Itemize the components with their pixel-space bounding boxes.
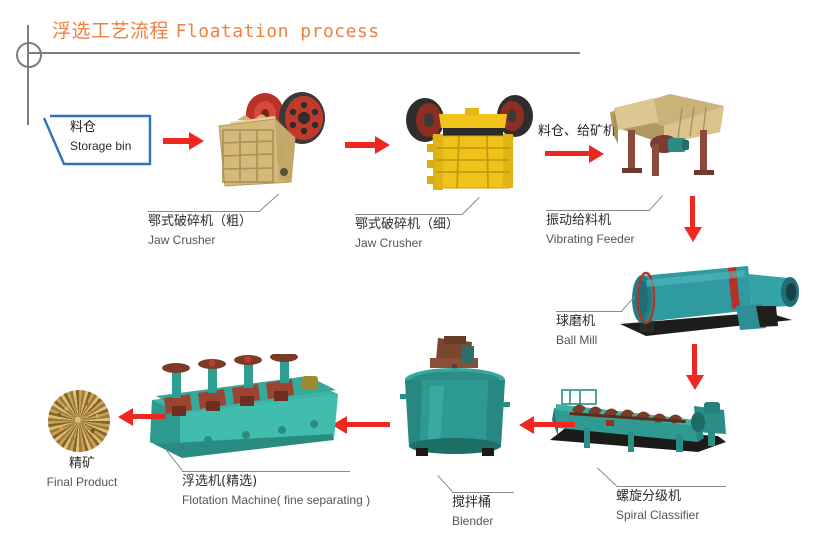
jaw-crusher-coarse-leader-horizontal — [148, 211, 260, 212]
spiral-classifier-leader-horizontal — [616, 486, 726, 487]
vibrating-feeder-label-en: Vibrating Feeder — [546, 231, 635, 248]
storage-bin-label-en: Storage bin — [70, 138, 131, 155]
vibrating-feeder-leader-horizontal — [546, 210, 650, 211]
ball-mill-leader-horizontal — [556, 311, 622, 312]
flow-diagram-canvas: 浮选工艺流程 Floatation process 料仓 Storage bin — [0, 0, 818, 551]
jaw-crusher-coarse-image — [205, 86, 330, 191]
spiral-classifier-label: 螺旋分级机 Spiral Classifier — [616, 488, 699, 524]
arrow-bin-to-jaw-crusher-coarse — [163, 132, 205, 150]
jaw-crusher-fine-label-cn: 鄂式破碎机（细） — [355, 216, 459, 235]
jaw-crusher-fine-label-en: Jaw Crusher — [355, 235, 459, 252]
jaw-crusher-fine-image — [403, 88, 535, 191]
vibrating-feeder-label: 振动给料机 Vibrating Feeder — [546, 212, 635, 248]
jaw-crusher-coarse-leader-diagonal — [259, 194, 279, 212]
flotation-machine-label: 浮选机(精选) Flotation Machine( fine separati… — [182, 473, 370, 509]
storage-bin-label-cn: 料仓 — [70, 119, 131, 138]
arrow-flotation-machine-to-final-product — [118, 408, 166, 426]
jaw-crusher-fine-leader-horizontal — [355, 214, 463, 215]
arrow-feeder-to-ball-mill — [684, 196, 702, 242]
jaw-crusher-coarse-label: 鄂式破碎机（粗） Jaw Crusher — [148, 213, 252, 249]
jaw-crusher-fine-leader-diagonal — [462, 197, 480, 215]
ball-mill-label-en: Ball Mill — [556, 332, 597, 349]
spiral-classifier-label-en: Spiral Classifier — [616, 507, 699, 524]
vibrating-feeder-label-cn: 振动给料机 — [546, 212, 635, 231]
flotation-machine-leader-horizontal — [182, 471, 350, 472]
ball-mill-image — [616, 250, 812, 345]
jaw-crusher-coarse-label-en: Jaw Crusher — [148, 232, 252, 249]
page-title-en: Floatation process — [176, 21, 380, 42]
blender-leader-horizontal — [452, 492, 514, 493]
arrow-jaw-coarse-to-jaw-fine — [345, 136, 393, 154]
final-product-image — [48, 390, 114, 456]
blender-image — [400, 336, 510, 456]
header-horizontal-rule — [28, 52, 580, 54]
page-title: 浮选工艺流程 Floatation process — [52, 16, 380, 43]
flotation-machine-image — [146, 354, 344, 462]
final-product-label-en: Final Product — [40, 474, 124, 491]
ore-pile-icon — [48, 390, 110, 452]
flotation-machine-label-en: Flotation Machine( fine separating ) — [182, 492, 370, 509]
spiral-classifier-image — [548, 376, 734, 466]
final-product-label-cn: 精矿 — [40, 455, 124, 474]
ball-mill-label: 球磨机 Ball Mill — [556, 313, 597, 349]
storage-bin-label: 料仓 Storage bin — [70, 119, 131, 155]
jaw-crusher-coarse-label-cn: 鄂式破碎机（粗） — [148, 213, 252, 232]
jaw-crusher-fine-label: 鄂式破碎机（细） Jaw Crusher — [355, 216, 459, 252]
blender-label-cn: 搅拌桶 — [452, 494, 493, 513]
arrow-spiral-classifier-to-blender — [519, 416, 575, 434]
feed-note-label: 料仓、给矿机 — [538, 120, 616, 139]
storage-bin-node: 料仓 Storage bin — [42, 114, 152, 169]
vibrating-feeder-leader-diagonal — [649, 195, 663, 211]
arrow-jaw-fine-to-vibrating-feeder — [545, 145, 607, 163]
crosshair-target-icon — [16, 42, 42, 68]
page-title-cn: 浮选工艺流程 — [52, 20, 169, 42]
final-product-label: 精矿 Final Product — [40, 455, 124, 491]
blender-label-en: Blender — [452, 513, 493, 530]
blender-leader-diagonal — [437, 475, 452, 492]
vibrating-feeder-image — [608, 92, 726, 184]
header-vertical-rule — [27, 25, 29, 125]
ball-mill-label-cn: 球磨机 — [556, 313, 597, 332]
spiral-classifier-leader-diagonal — [597, 468, 617, 486]
flotation-machine-label-cn: 浮选机(精选) — [182, 473, 370, 492]
blender-label: 搅拌桶 Blender — [452, 494, 493, 530]
spiral-classifier-label-cn: 螺旋分级机 — [616, 488, 699, 507]
